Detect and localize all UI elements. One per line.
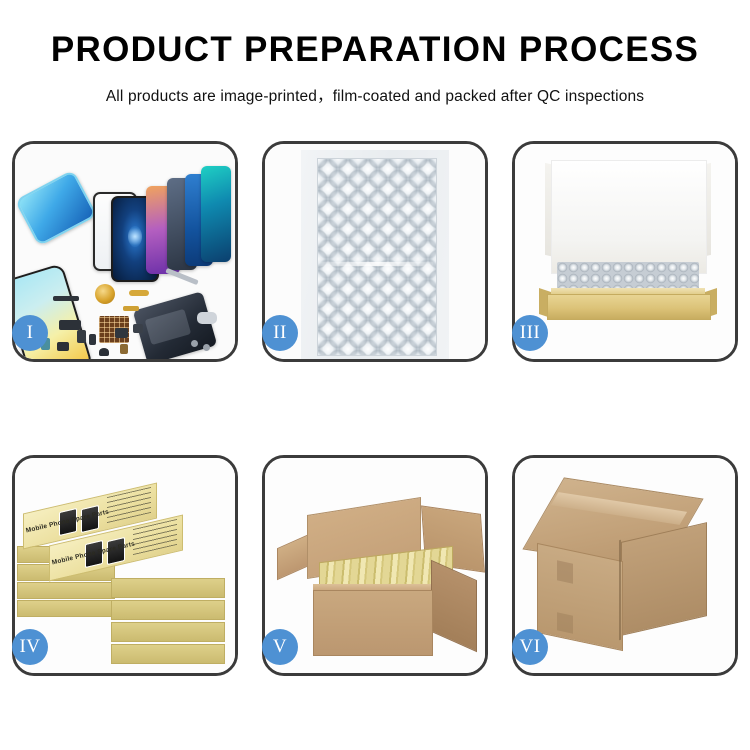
spare-part <box>115 328 128 338</box>
spare-part <box>120 344 128 354</box>
step-badge-iii: III <box>512 315 548 351</box>
spare-part <box>59 320 81 330</box>
mailer-lid <box>551 160 707 274</box>
phone-display-teal-image <box>201 166 231 262</box>
spare-part <box>89 334 96 345</box>
step-badge-vi: VI <box>512 629 548 665</box>
step-panel-ii: II <box>262 141 488 362</box>
sealed-carton-corner-seam <box>619 540 621 640</box>
sealed-carton-right-panel <box>621 522 707 636</box>
mailer-front-panel <box>547 294 711 320</box>
step-badge-iv: IV <box>12 629 48 665</box>
process-steps-grid: I II III <box>12 141 738 676</box>
carton-flap-tab <box>557 612 573 633</box>
wrap-seam <box>319 262 433 266</box>
stacked-box-slab <box>111 600 225 620</box>
stacked-box-slab <box>17 582 115 599</box>
step-badge-ii: II <box>262 315 298 351</box>
step-image-vi <box>515 458 735 673</box>
step-panel-vi: VI <box>512 455 738 676</box>
copper-coil-part <box>95 284 115 304</box>
carton-front-panel <box>313 590 433 656</box>
spare-part <box>129 290 149 296</box>
stacked-box-slab <box>111 578 225 598</box>
page-header: PRODUCT PREPARATION PROCESS All products… <box>0 0 750 106</box>
spare-part <box>99 348 109 356</box>
spare-part <box>191 340 198 347</box>
stacked-box-slab <box>111 622 225 642</box>
step-badge-i: I <box>12 315 48 351</box>
sealed-carton-front-panel <box>537 543 623 651</box>
step-image-iv: Mobile Phone Spare Parts Mobile Phone Sp… <box>15 458 235 673</box>
spare-part <box>203 344 210 351</box>
spare-part <box>77 330 86 343</box>
step-image-i <box>15 144 235 359</box>
spare-part <box>197 312 217 324</box>
page-title: PRODUCT PREPARATION PROCESS <box>0 32 750 67</box>
step-panel-iv: Mobile Phone Spare Parts Mobile Phone Sp… <box>12 455 238 676</box>
step-panel-i: I <box>12 141 238 362</box>
bubble-wrap-image <box>317 158 437 356</box>
page-subtitle: All products are image-printed，film-coat… <box>0 67 750 106</box>
spare-part <box>53 296 79 301</box>
spare-part <box>57 342 69 351</box>
step-panel-v: V <box>262 455 488 676</box>
step-badge-v: V <box>262 629 298 665</box>
carton-flap-tab <box>557 560 573 583</box>
stacked-box-slab <box>111 644 225 664</box>
stacked-box-slab <box>17 600 115 617</box>
spare-part <box>133 324 143 333</box>
step-image-ii <box>265 144 485 359</box>
step-image-v <box>265 458 485 673</box>
spare-part <box>123 306 139 311</box>
step-panel-iii: III <box>512 141 738 362</box>
step-image-iii <box>515 144 735 359</box>
